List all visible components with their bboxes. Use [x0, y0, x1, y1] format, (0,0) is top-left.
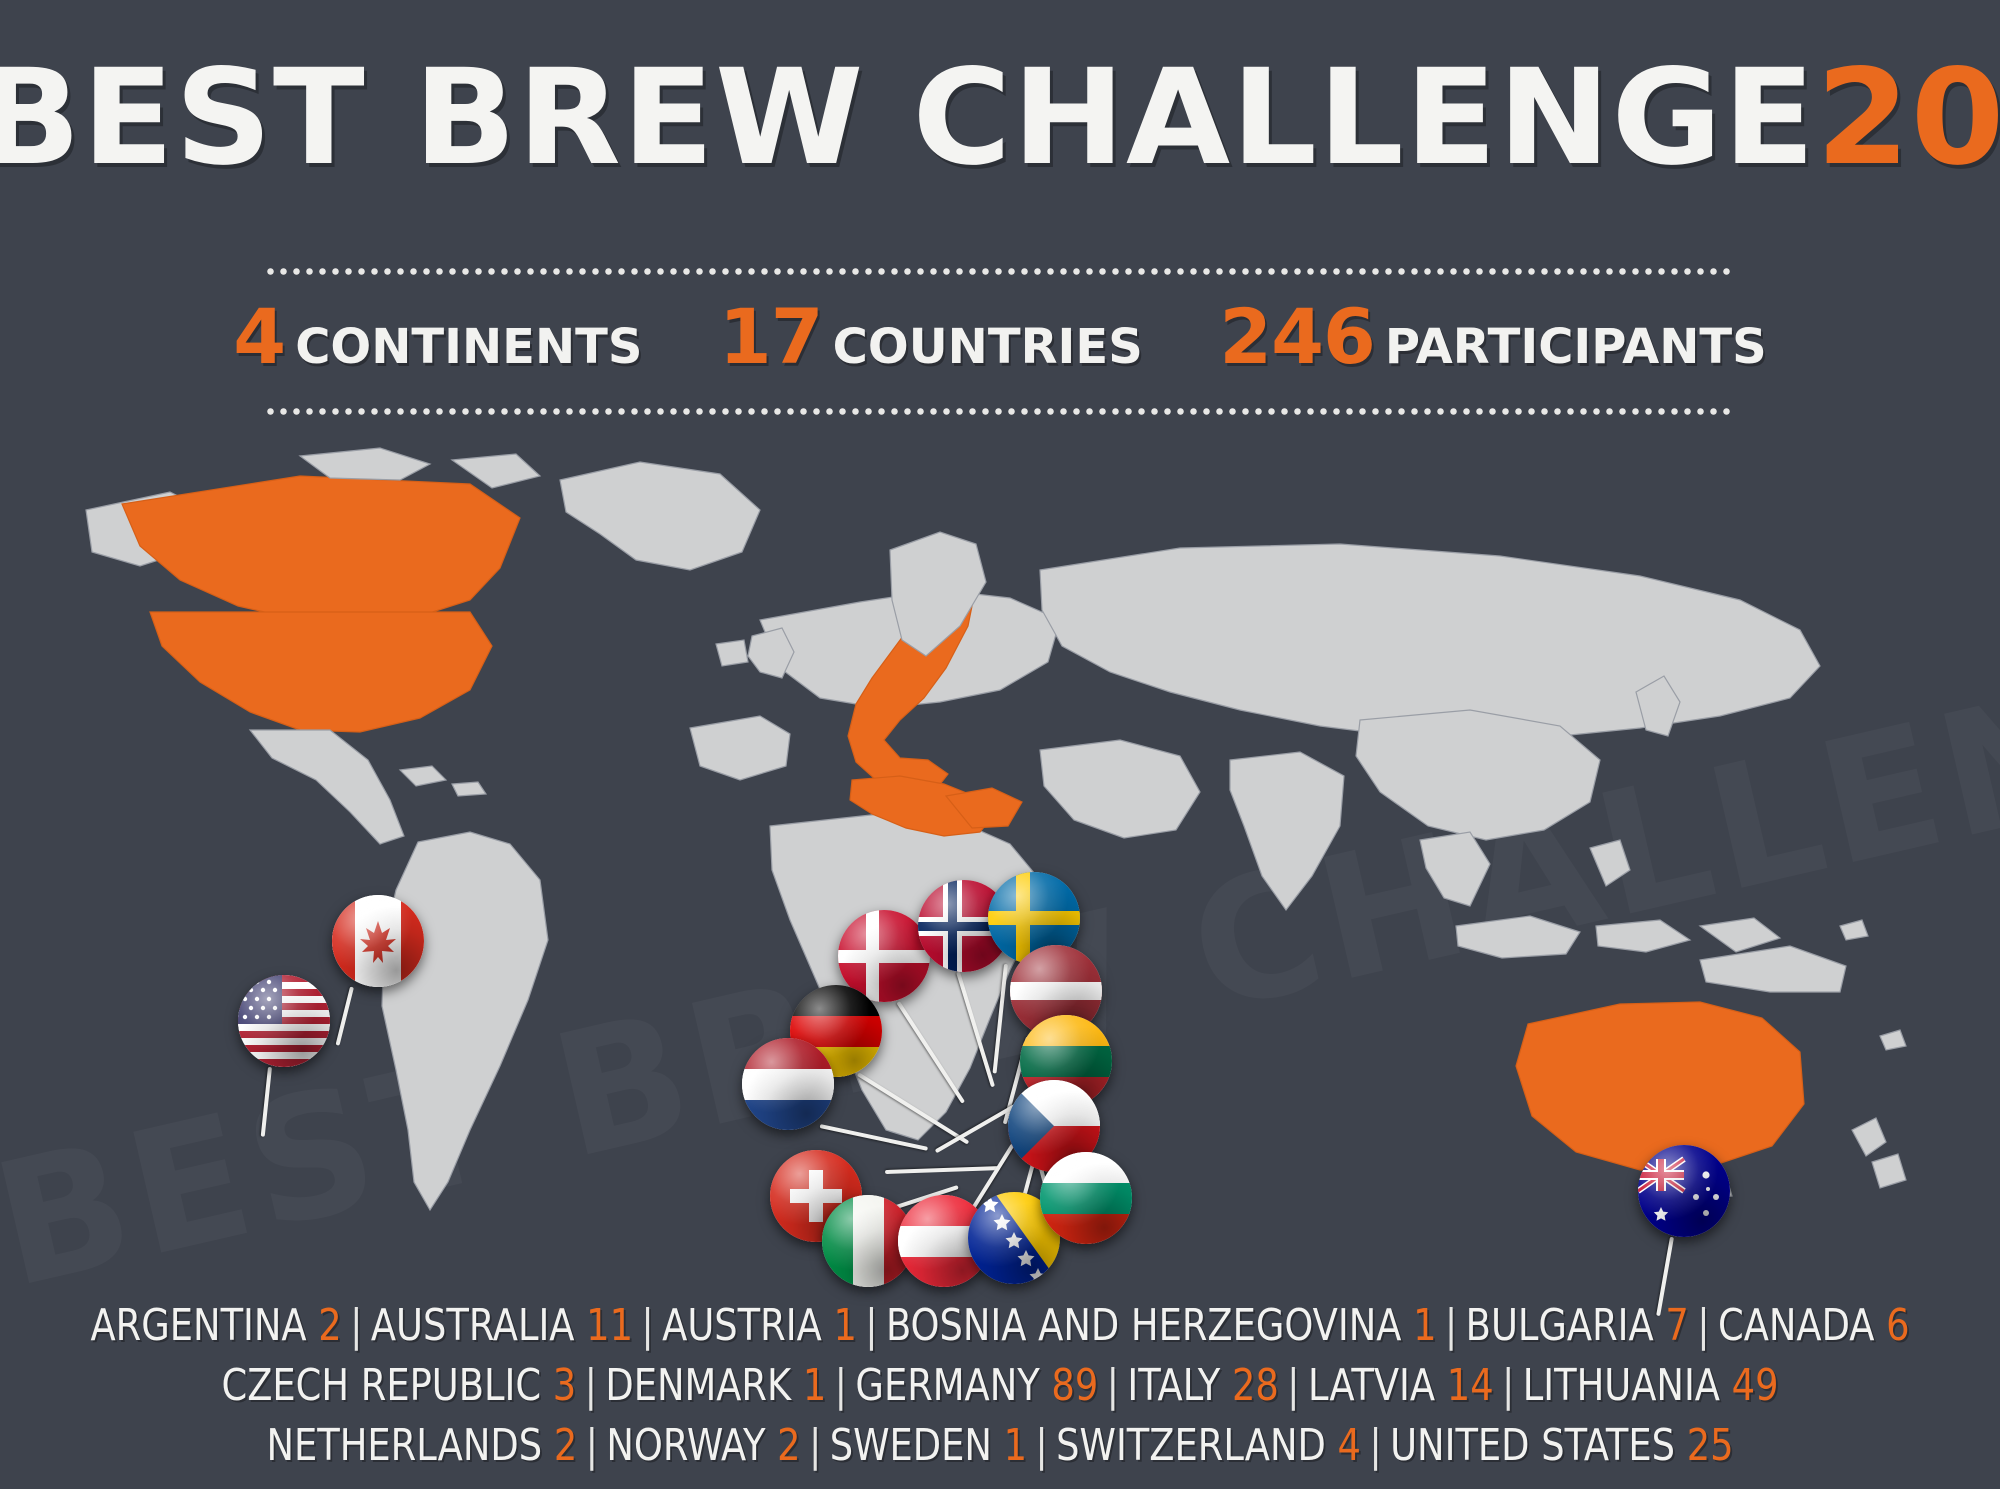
country-name: GERMANY — [855, 1360, 1051, 1411]
country-list-line-3: NETHERLANDS 2|NORWAY 2|SWEDEN 1|SWITZERL… — [70, 1416, 1930, 1476]
country-count: 2 — [554, 1420, 577, 1471]
country-separator: | — [585, 1360, 597, 1411]
country-name: BOSNIA AND HERZEGOVINA — [886, 1300, 1413, 1351]
map-landmasses — [86, 448, 1906, 1210]
country-separator: | — [1502, 1360, 1514, 1411]
netherlands-flag — [742, 1038, 834, 1130]
country-list-line-2: CZECH REPUBLIC 3|DENMARK 1|GERMANY 89|IT… — [70, 1356, 1930, 1416]
map-pin-australia[interactable] — [1638, 1145, 1730, 1237]
divider-top — [264, 268, 1736, 275]
country-separator: | — [809, 1420, 821, 1471]
stat-continents-value: 4 — [233, 292, 285, 381]
stat-countries-value: 17 — [719, 292, 823, 381]
country-count: 4 — [1338, 1420, 1361, 1471]
title-main: BEST BREW CHALLENGE — [0, 41, 1816, 195]
world-map — [0, 440, 2000, 1270]
bulgaria-flag — [1040, 1152, 1132, 1244]
stat-participants: 246PARTICIPANTS — [1219, 292, 1766, 381]
country-count: 3 — [553, 1360, 576, 1411]
country-name: NETHERLANDS — [266, 1420, 553, 1471]
country-separator: | — [1035, 1420, 1047, 1471]
country-name: ARGENTINA — [91, 1300, 319, 1351]
country-count: 1 — [833, 1300, 856, 1351]
country-name: UNITED STATES — [1390, 1420, 1687, 1471]
country-count: 25 — [1687, 1420, 1734, 1471]
country-separator: | — [835, 1360, 847, 1411]
country-count: 7 — [1665, 1300, 1688, 1351]
stat-participants-label: PARTICIPANTS — [1385, 319, 1767, 375]
country-count: 11 — [586, 1300, 633, 1351]
stat-countries: 17COUNTRIES — [719, 292, 1143, 381]
country-separator: | — [1697, 1300, 1709, 1351]
country-count: 1 — [1004, 1420, 1027, 1471]
country-name: BULGARIA — [1466, 1300, 1666, 1351]
country-name: LITHUANIA — [1523, 1360, 1732, 1411]
country-count: 1 — [803, 1360, 826, 1411]
map-pin-netherlands[interactable] — [742, 1038, 834, 1130]
country-separator: | — [1107, 1360, 1119, 1411]
country-name: SWITZERLAND — [1056, 1420, 1337, 1471]
country-name: NORWAY — [606, 1420, 777, 1471]
country-count: 14 — [1447, 1360, 1494, 1411]
page-title: BEST BREW CHALLENGE2022 — [0, 52, 2000, 184]
title-year: 2022 — [1816, 41, 2000, 195]
country-count: 2 — [318, 1300, 341, 1351]
map-pin-united-states[interactable] — [238, 975, 330, 1067]
country-name: ITALY — [1127, 1360, 1232, 1411]
country-count: 6 — [1886, 1300, 1909, 1351]
australia-flag — [1638, 1145, 1730, 1237]
country-separator: | — [641, 1300, 653, 1351]
country-count: 89 — [1051, 1360, 1098, 1411]
stats-row: 4CONTINENTS 17COUNTRIES 246PARTICIPANTS — [0, 292, 2000, 381]
country-separator: | — [865, 1300, 877, 1351]
country-separator: | — [1369, 1420, 1381, 1471]
country-name: SWEDEN — [830, 1420, 1004, 1471]
country-separator: | — [1287, 1360, 1299, 1411]
country-separator: | — [586, 1420, 598, 1471]
map-pin-canada[interactable] — [332, 895, 424, 987]
country-list-line-1: ARGENTINA 2|AUSTRALIA 11|AUSTRIA 1|BOSNI… — [70, 1296, 1930, 1356]
stat-continents: 4CONTINENTS — [233, 292, 642, 381]
country-participant-list: ARGENTINA 2|AUSTRALIA 11|AUSTRIA 1|BOSNI… — [0, 1296, 2000, 1476]
country-count: 28 — [1232, 1360, 1279, 1411]
stat-countries-label: COUNTRIES — [833, 319, 1143, 375]
country-name: CZECH REPUBLIC — [221, 1360, 552, 1411]
country-name: DENMARK — [605, 1360, 802, 1411]
divider-bottom — [264, 408, 1736, 415]
canada-flag — [332, 895, 424, 987]
usa-flag — [238, 975, 330, 1067]
country-separator: | — [1445, 1300, 1457, 1351]
country-name: AUSTRALIA — [371, 1300, 586, 1351]
map-pin-bulgaria[interactable] — [1040, 1152, 1132, 1244]
country-name: CANADA — [1718, 1300, 1886, 1351]
country-count: 1 — [1413, 1300, 1436, 1351]
country-name: AUSTRIA — [662, 1300, 833, 1351]
country-separator: | — [350, 1300, 362, 1351]
country-name: LATVIA — [1308, 1360, 1447, 1411]
country-count: 2 — [777, 1420, 800, 1471]
stat-participants-value: 246 — [1219, 292, 1375, 381]
stat-continents-label: CONTINENTS — [295, 319, 642, 375]
country-count: 49 — [1732, 1360, 1779, 1411]
